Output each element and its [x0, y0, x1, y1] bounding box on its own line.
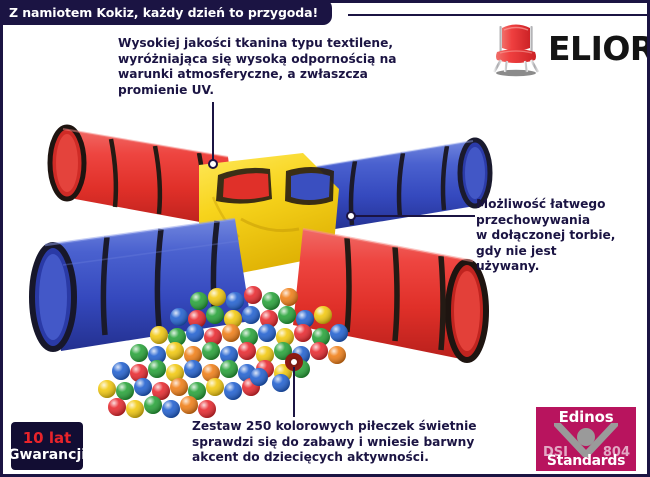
callout-fabric-line-1: Wysokiej jakości tkanina typu textilene, — [118, 36, 468, 52]
brand-logo: ELIOR — [490, 17, 638, 79]
standards-badge: Edinos DSI 804 Standards — [536, 407, 636, 471]
warranty-label: Gwarancji — [8, 447, 86, 463]
callout-balls: Zestaw 250 kolorowych piłeczek świetnie … — [192, 419, 522, 466]
callout-marker-balls — [289, 357, 299, 367]
warranty-years: 10 lat — [23, 430, 72, 447]
callout-fabric: Wysokiej jakości tkanina typu textilene,… — [118, 36, 468, 98]
leader-line-fabric — [212, 102, 214, 163]
callout-balls-line-3: akcent do dziecięcych aktywności. — [192, 450, 522, 466]
callout-fabric-line-2: wyróżniająca się wysoką odpornością na — [118, 52, 468, 68]
callout-storage-line-2: przechowywania — [476, 213, 650, 229]
header-rule — [348, 14, 647, 16]
callout-fabric-line-3: warunki atmosferyczne, a zwłaszcza — [118, 67, 468, 83]
warranty-badge: 10 lat Gwarancji — [11, 422, 83, 470]
infographic-root: Wysokiej jakości tkanina typu textilene,… — [0, 0, 650, 477]
header-banner-text: Z namiotem Kokiz, każdy dzień to przygod… — [9, 5, 318, 20]
callout-storage: Możliwość łatwego przechowywania w dołąc… — [476, 197, 650, 275]
callout-balls-line-1: Zestaw 250 kolorowych piłeczek świetnie — [192, 419, 522, 435]
callout-marker-fabric — [208, 159, 218, 169]
standards-label: Standards — [536, 453, 636, 469]
callout-balls-line-2: sprawdzi się do zabawy i wniesie barwny — [192, 435, 522, 451]
callout-storage-line-1: Możliwość łatwego — [476, 197, 650, 213]
brand-name: ELIOR — [548, 32, 650, 65]
leader-line-storage — [355, 215, 475, 217]
red-chair-icon — [490, 19, 542, 77]
callout-fabric-line-4: promienie UV. — [118, 83, 468, 99]
callout-marker-storage — [346, 211, 356, 221]
callout-storage-line-4: gdy nie jest — [476, 244, 650, 260]
leader-line-balls — [293, 367, 295, 417]
callout-storage-line-5: używany. — [476, 259, 650, 275]
callout-storage-line-3: w dołączonej torbie, — [476, 228, 650, 244]
header-banner: Z namiotem Kokiz, każdy dzień to przygod… — [0, 0, 332, 25]
